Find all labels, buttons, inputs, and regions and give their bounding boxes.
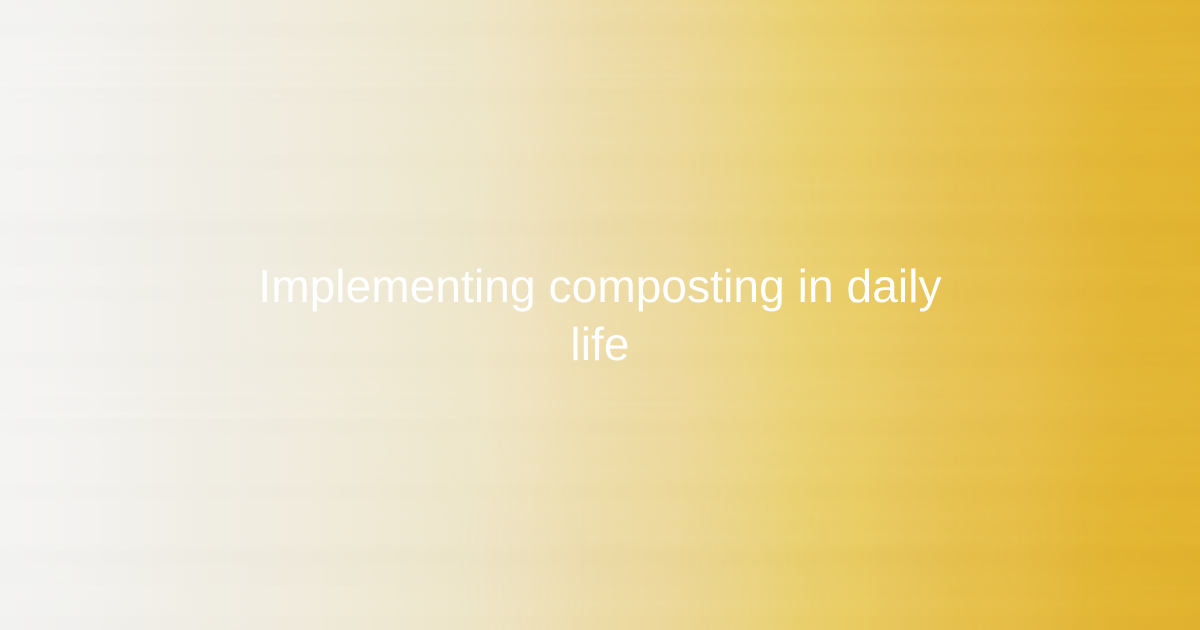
page-title: Implementing composting in daily life bbox=[250, 257, 950, 373]
social-share-card: Implementing composting in daily life bbox=[0, 0, 1200, 630]
title-container: Implementing composting in daily life bbox=[0, 0, 1200, 630]
